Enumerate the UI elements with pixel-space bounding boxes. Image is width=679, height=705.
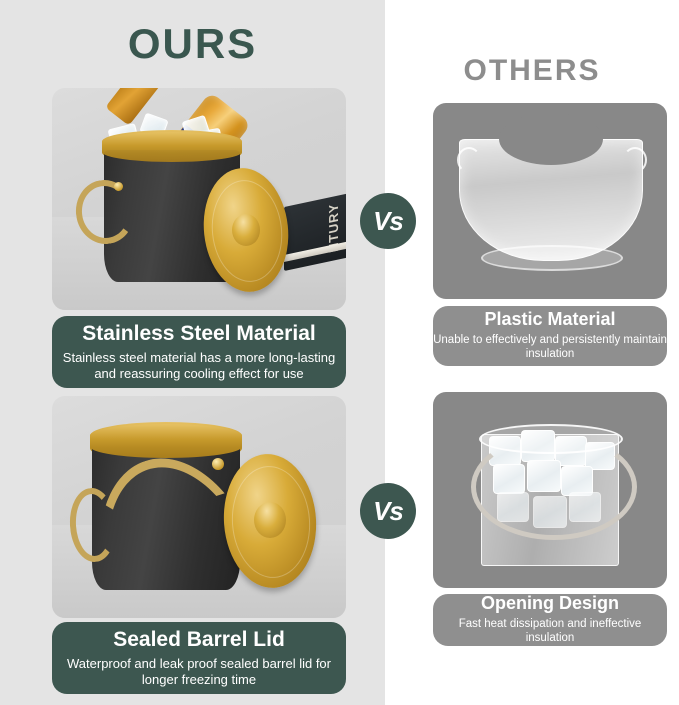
bucket-gold-rim-front <box>90 424 242 458</box>
lid-knob <box>232 214 260 246</box>
caption-title: Plastic Material <box>484 310 615 330</box>
plastic-bucket-base <box>481 245 623 271</box>
ours-photo-stainless-steel-material: NTURY <box>52 88 346 310</box>
caption-subtitle: Waterproof and leak proof sealed barrel … <box>52 656 346 689</box>
others-photo-opening-design <box>433 392 667 588</box>
plastic-bucket-metal-handle <box>471 434 637 540</box>
ours-caption-1: Stainless Steel Material Stainless steel… <box>52 316 346 388</box>
ours-heading: OURS <box>0 20 385 68</box>
vs-badge-2: Vs <box>360 483 416 539</box>
others-caption-1: Plastic Material Unable to effectively a… <box>433 306 667 366</box>
plastic-bucket-curved-notch <box>499 113 603 165</box>
lid-knob <box>254 502 286 538</box>
bucket-gold-rim-top <box>102 132 242 162</box>
plastic-bucket-left-ear <box>457 147 481 173</box>
handle-rivet <box>114 182 123 191</box>
ours-caption-2: Sealed Barrel Lid Waterproof and leak pr… <box>52 622 346 694</box>
others-heading: OTHERS <box>385 54 679 88</box>
caption-title: Opening Design <box>481 594 619 614</box>
caption-title: Sealed Barrel Lid <box>113 628 285 651</box>
caption-subtitle: Unable to effectively and persistently m… <box>433 333 667 362</box>
ours-photo-sealed-barrel-lid <box>52 396 346 618</box>
handle-rivet <box>212 458 224 470</box>
plastic-bucket-right-ear <box>623 147 647 173</box>
others-caption-2: Opening Design Fast heat dissipation and… <box>433 594 667 646</box>
product-scene <box>52 396 346 618</box>
product-scene <box>433 392 667 588</box>
vs-badge-1: Vs <box>360 193 416 249</box>
caption-title: Stainless Steel Material <box>82 322 315 345</box>
comparison-infographic: OURS OTHERS NTURY <box>0 0 679 705</box>
product-scene: NTURY <box>52 88 346 310</box>
others-photo-plastic-material <box>433 103 667 299</box>
product-scene <box>433 103 667 299</box>
caption-subtitle: Stainless steel material has a more long… <box>52 350 346 383</box>
caption-subtitle: Fast heat dissipation and ineffective in… <box>433 617 667 646</box>
